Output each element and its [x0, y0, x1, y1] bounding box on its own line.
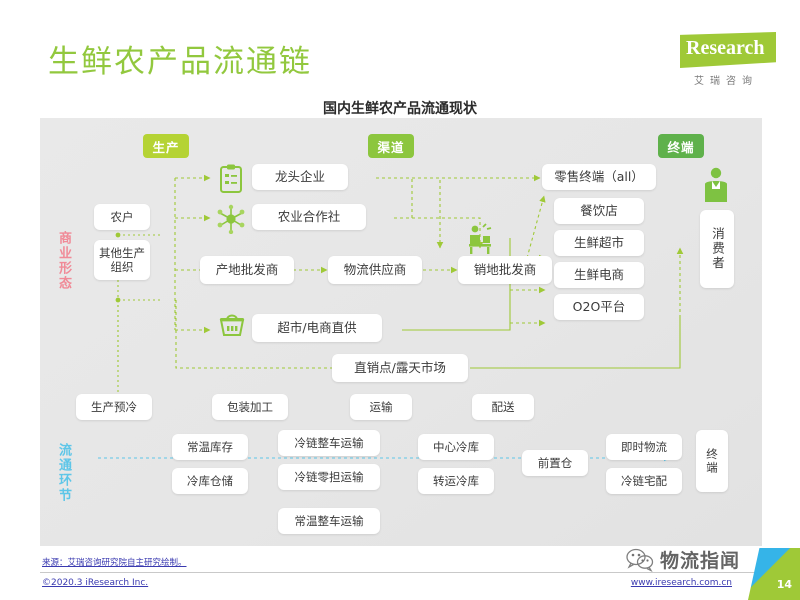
- node-xiaodipifa-label: 销地批发商: [474, 263, 537, 277]
- node-chaoshizhigong[interactable]: 超市/电商直供: [252, 314, 382, 342]
- node-shengchanyuleng-label: 生产预冷: [91, 400, 137, 414]
- node-hezuoshe-label: 农业合作社: [278, 210, 341, 224]
- tab-terminal[interactable]: 终端: [658, 134, 704, 158]
- node-qianzhicang-label: 前置仓: [538, 456, 573, 470]
- node-shengxianchaoshi[interactable]: 生鲜超市: [554, 230, 644, 256]
- node-qitashengchan[interactable]: 其他生产组织: [94, 240, 150, 280]
- desk-worker-icon: [464, 222, 498, 256]
- logo-i-dot-icon: [670, 36, 675, 41]
- node-qitashengchan-label: 其他生产组织: [98, 246, 146, 274]
- watermark: 物流指闻: [625, 546, 740, 573]
- website-link[interactable]: www.iresearch.com.cn: [631, 578, 732, 588]
- tab-channel-label: 渠道: [377, 137, 404, 156]
- node-zhuanyunlengku[interactable]: 转运冷库: [418, 468, 494, 494]
- logo-i-stem-icon: [671, 43, 675, 63]
- watermark-text: 物流指闻: [660, 546, 740, 573]
- node-zhixiaodian[interactable]: 直销点/露天市场: [332, 354, 468, 382]
- node-lengkucangchu-label: 冷库仓储: [187, 474, 233, 488]
- node-chandipifa-label: 产地批发商: [216, 263, 279, 277]
- node-lenglianzhengche-label: 冷链整车运输: [295, 436, 364, 450]
- node-xiaofeizhe-label: 消费者: [708, 227, 726, 271]
- tab-channel[interactable]: 渠道: [368, 134, 414, 158]
- node-longtou[interactable]: 龙头企业: [252, 164, 348, 190]
- node-nonghu[interactable]: 农户: [94, 204, 150, 230]
- wechat-icon: [625, 548, 655, 572]
- node-o2o-label: O2O平台: [573, 300, 626, 314]
- node-yunshu-label: 运输: [370, 400, 393, 414]
- tab-production-label: 生产: [152, 137, 179, 156]
- node-zhuanyunlengku-label: 转运冷库: [433, 474, 479, 488]
- node-shengxiandianshang[interactable]: 生鲜电商: [554, 262, 644, 288]
- tab-terminal-label: 终端: [667, 137, 694, 156]
- tab-production[interactable]: 生产: [143, 134, 189, 158]
- node-baozhuangjiagong-label: 包装加工: [227, 400, 273, 414]
- node-changwenkucun[interactable]: 常温库存: [172, 434, 248, 460]
- copyright-text: ©2020.3 iResearch Inc.: [42, 578, 148, 588]
- node-lingshouzhongduan-label: 零售终端（all）: [554, 170, 644, 184]
- section-label-business-text: 商业形态: [56, 231, 71, 291]
- node-lengkucangchu[interactable]: 冷库仓储: [172, 468, 248, 494]
- node-wuliugongying-label: 物流供应商: [344, 263, 407, 277]
- logo-chinese-name: 艾瑞咨询: [676, 72, 776, 87]
- node-zhixiaodian-label: 直销点/露天市场: [354, 361, 446, 375]
- node-lenglianzhaipei-label: 冷链宅配: [621, 474, 667, 488]
- node-shengxianchaoshi-label: 生鲜超市: [574, 236, 624, 250]
- node-changwenzhengche[interactable]: 常温整车运输: [278, 508, 380, 534]
- node-lingshouzhongduan[interactable]: 零售终端（all）: [542, 164, 656, 190]
- node-jishiwuliu[interactable]: 即时物流: [606, 434, 682, 460]
- node-peisong-label: 配送: [492, 400, 515, 414]
- clipboard-icon: [218, 164, 244, 194]
- node-o2o[interactable]: O2O平台: [554, 294, 644, 320]
- node-shengchanyuleng[interactable]: 生产预冷: [76, 394, 152, 420]
- node-changwenzhengche-label: 常温整车运输: [295, 514, 364, 528]
- section-label-flow: 流通环节: [50, 418, 72, 528]
- node-shengxiandianshang-label: 生鲜电商: [574, 268, 624, 282]
- corner-decoration: [748, 548, 800, 600]
- source-note: 来源：艾瑞咨询研究院自主研究绘制。: [42, 556, 187, 568]
- node-lenglianlingdan[interactable]: 冷链零担运输: [278, 464, 380, 490]
- node-xiaofeizhe[interactable]: 消费者: [700, 210, 734, 288]
- node-lenglianzhengche[interactable]: 冷链整车运输: [278, 430, 380, 456]
- node-canyindian-label: 餐饮店: [580, 204, 618, 218]
- node-lenglianzhaipei[interactable]: 冷链宅配: [606, 468, 682, 494]
- node-changwenkucun-label: 常温库存: [187, 440, 233, 454]
- iresearch-logo: Research 艾瑞咨询: [666, 32, 778, 92]
- page-number: 14: [777, 578, 792, 591]
- node-yunshu[interactable]: 运输: [350, 394, 412, 420]
- node-zhongduan[interactable]: 终端: [696, 430, 728, 492]
- node-lenglianlingdan-label: 冷链零担运输: [295, 470, 364, 484]
- node-chandipifa[interactable]: 产地批发商: [200, 256, 294, 284]
- node-longtou-label: 龙头企业: [275, 170, 325, 184]
- node-xiaodipifa[interactable]: 销地批发商: [458, 256, 552, 284]
- node-zhongduan-label: 终端: [703, 448, 721, 475]
- logo-wordmark: Research: [686, 37, 765, 60]
- section-label-business: 商业形态: [50, 206, 72, 316]
- node-baozhuangjiagong[interactable]: 包装加工: [212, 394, 288, 420]
- network-hub-icon: [216, 204, 246, 234]
- basket-icon: [218, 310, 246, 338]
- node-hezuoshe[interactable]: 农业合作社: [252, 204, 366, 230]
- diagram-panel: 生产 渠道 终端 商业形态 流通环节: [40, 118, 762, 546]
- node-nonghu-label: 农户: [111, 210, 134, 224]
- page-title: 生鲜农产品流通链: [48, 36, 312, 81]
- node-wuliugongying[interactable]: 物流供应商: [328, 256, 422, 284]
- node-zhongxinlengku[interactable]: 中心冷库: [418, 434, 494, 460]
- node-chaoshizhigong-label: 超市/电商直供: [277, 321, 356, 335]
- node-canyindian[interactable]: 餐饮店: [554, 198, 644, 224]
- consumer-person-icon: [700, 166, 732, 208]
- node-jishiwuliu-label: 即时物流: [621, 440, 667, 454]
- node-peisong[interactable]: 配送: [472, 394, 534, 420]
- node-qianzhicang[interactable]: 前置仓: [522, 450, 588, 476]
- section-label-flow-text: 流通环节: [56, 443, 71, 503]
- logo-mark: Research: [680, 32, 776, 68]
- slide-page: 生鲜农产品流通链 Research 艾瑞咨询 国内生鲜农产品流通现状: [0, 0, 800, 600]
- node-zhongxinlengku-label: 中心冷库: [433, 440, 479, 454]
- chart-subtitle: 国内生鲜农产品流通现状: [0, 98, 800, 118]
